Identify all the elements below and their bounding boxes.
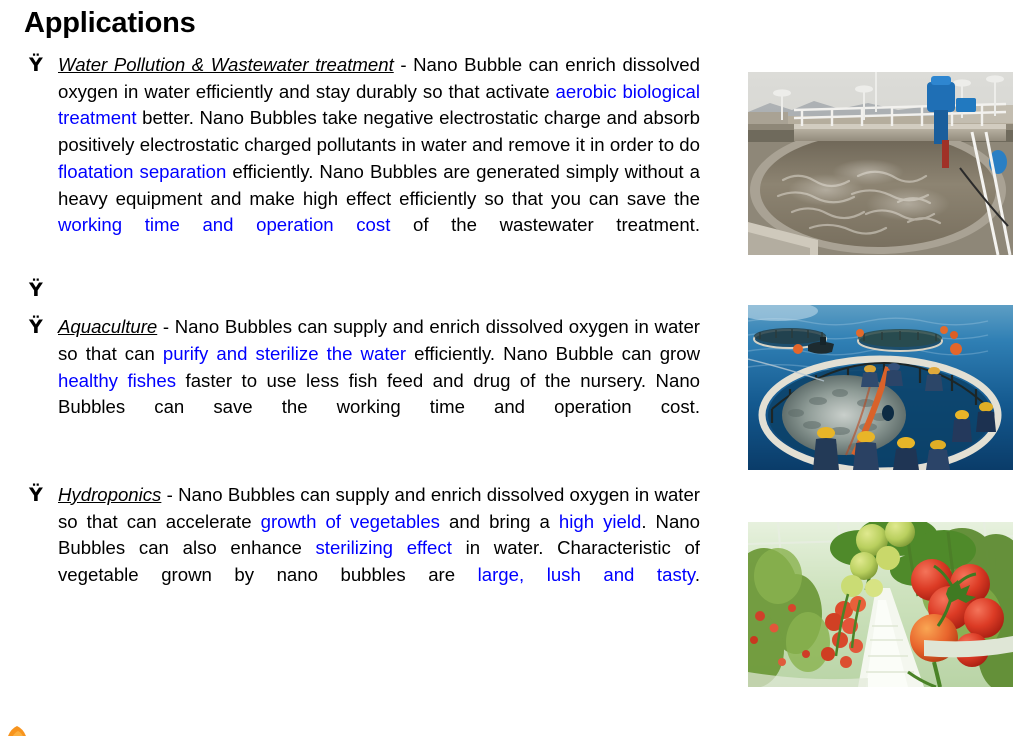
hydroponic-tomato-greenhouse-photo bbox=[748, 522, 1013, 687]
segment-2: better. Nano Bubbles take negative elect… bbox=[58, 107, 700, 155]
bullet-glyph-icon: Ÿ bbox=[29, 277, 53, 304]
segment-6: of the wastewater treatment. bbox=[390, 214, 700, 235]
bullet-text-spacer bbox=[58, 277, 700, 304]
segment-3-highlight: healthy fishes bbox=[58, 370, 176, 391]
segment-5-highlight: working time and operation cost bbox=[58, 214, 390, 235]
segment-8: . bbox=[695, 564, 700, 585]
page-title: Applications bbox=[24, 4, 196, 42]
wastewater-treatment-aeration-tank-photo bbox=[748, 72, 1013, 255]
spacer-after-aquaculture bbox=[28, 448, 700, 482]
segment-1-highlight: growth of vegetables bbox=[261, 511, 440, 532]
segment-2: efficiently. Nano Bubble can grow bbox=[406, 343, 700, 364]
term-water-pollution: Water Pollution & Wastewater treatment bbox=[58, 54, 394, 75]
bullet-item-aquaculture: Ÿ Aquaculture - Nano Bubbles can supply … bbox=[28, 314, 700, 448]
segment-3-highlight: floatation separation bbox=[58, 161, 226, 182]
spacer-after-empty-bullet bbox=[28, 303, 700, 314]
term-hydroponics: Hydroponics bbox=[58, 484, 161, 505]
bullet-item-water-pollution: Ÿ Water Pollution & Wastewater treatment… bbox=[28, 52, 700, 266]
bullet-glyph-icon: Ÿ bbox=[29, 482, 53, 509]
segment-3-highlight: high yield bbox=[559, 511, 641, 532]
segment-7-highlight: large, lush and tasty bbox=[478, 564, 695, 585]
aquaculture-fish-pens-photo bbox=[748, 305, 1013, 470]
bullet-item-spacer: Ÿ bbox=[28, 277, 700, 304]
bullet-text-aquaculture: Aquaculture - Nano Bubbles can supply an… bbox=[58, 314, 700, 448]
bullet-list: Ÿ Water Pollution & Wastewater treatment… bbox=[28, 52, 700, 615]
bullet-glyph-icon: Ÿ bbox=[29, 52, 53, 79]
segment-2: and bring a bbox=[440, 511, 559, 532]
bullet-text-water-pollution: Water Pollution & Wastewater treatment -… bbox=[58, 52, 700, 266]
segment-1-highlight: purify and sterilize the water bbox=[163, 343, 406, 364]
term-aquaculture: Aquaculture bbox=[58, 316, 157, 337]
spacer-after-water-pollution bbox=[28, 266, 700, 277]
bullet-text-hydroponics: Hydroponics - Nano Bubbles can supply an… bbox=[58, 482, 700, 616]
segment-5-highlight: sterilizing effect bbox=[316, 537, 452, 558]
slide-canvas: Applications Ÿ Water Pollution & Wastewa… bbox=[0, 0, 1025, 736]
bullet-glyph-icon: Ÿ bbox=[29, 314, 53, 341]
bullet-item-hydroponics: Ÿ Hydroponics - Nano Bubbles can supply … bbox=[28, 482, 700, 616]
orange-corner-graphic bbox=[4, 722, 30, 736]
